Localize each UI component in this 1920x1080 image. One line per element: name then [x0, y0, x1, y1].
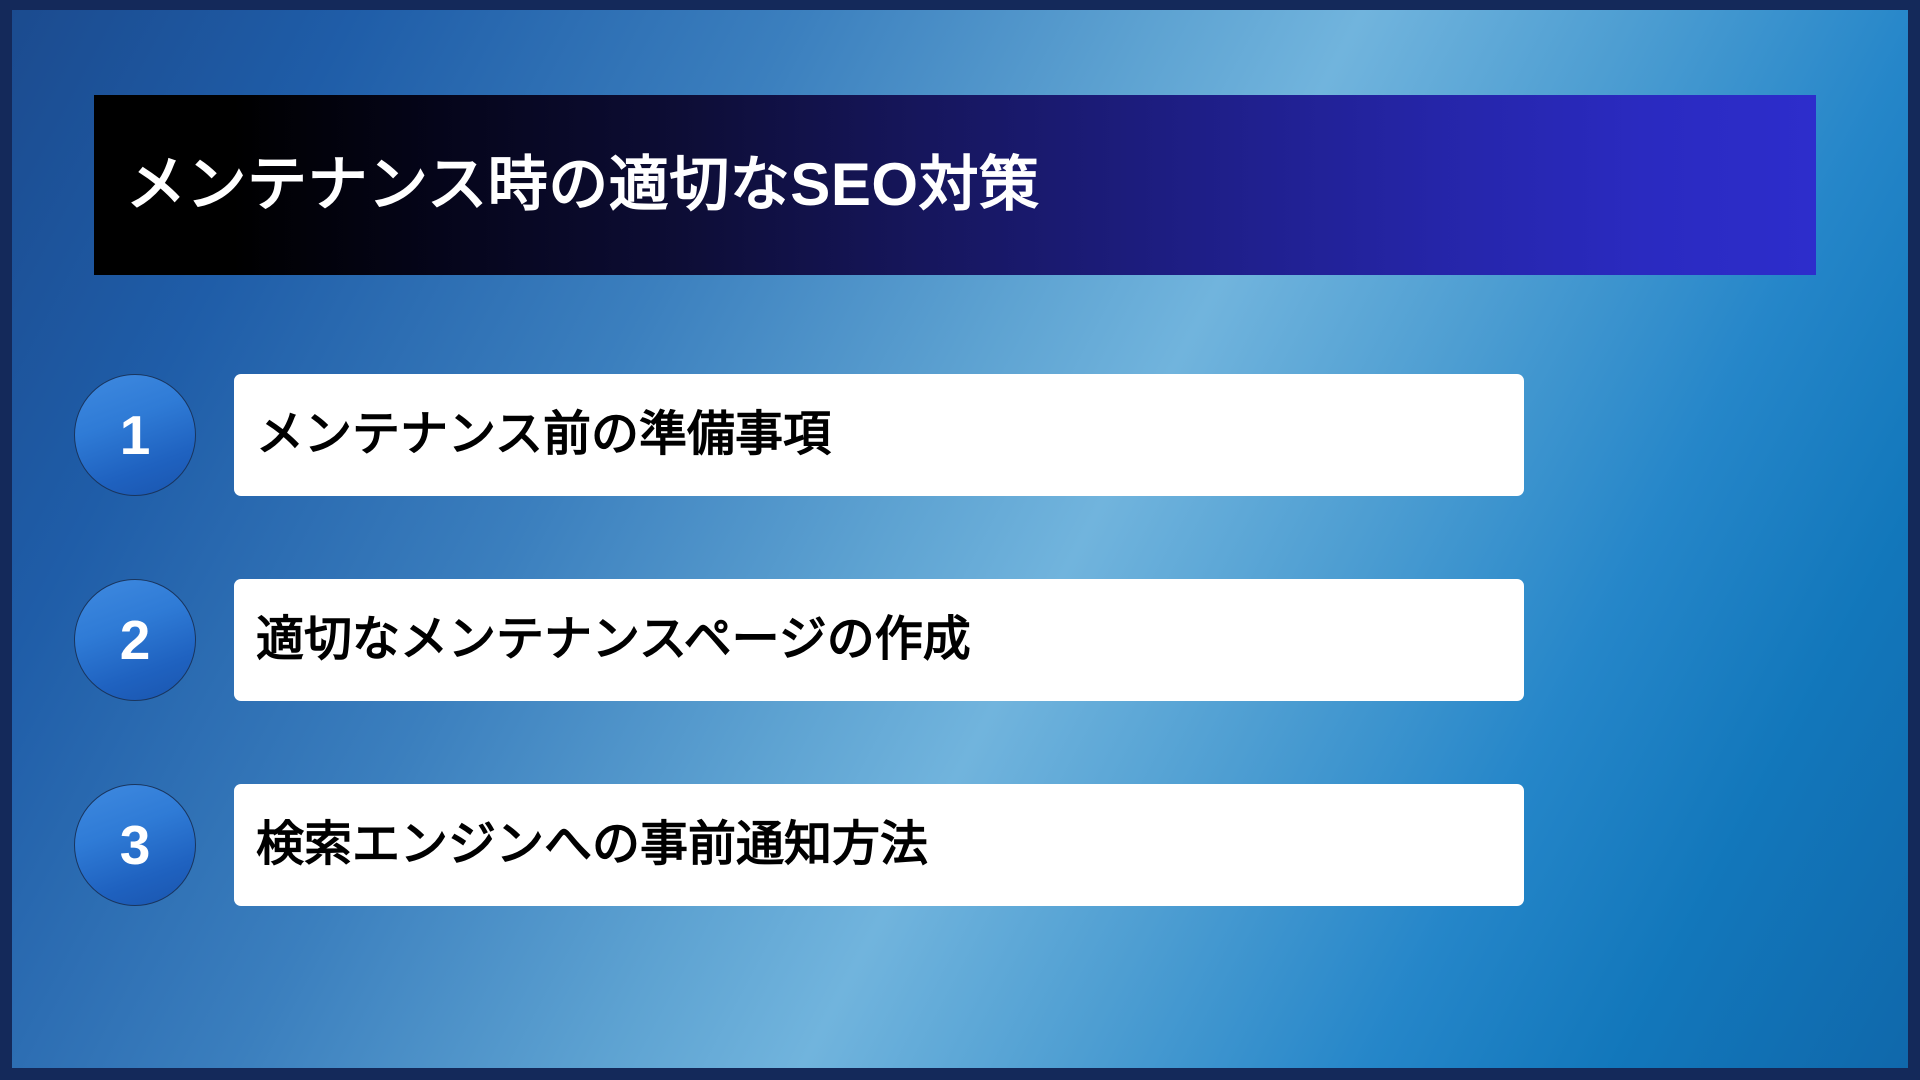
step-badge-2: 2 — [74, 579, 196, 701]
title-banner: メンテナンス時の適切なSEO対策 — [94, 95, 1816, 275]
list-item[interactable]: 2 適切なメンテナンスページの作成 — [12, 565, 1908, 715]
step-card-2[interactable]: 適切なメンテナンスページの作成 — [234, 579, 1524, 701]
page-title: メンテナンス時の適切なSEO対策 — [94, 155, 1040, 215]
step-badge-3: 3 — [74, 784, 196, 906]
step-card-label: 検索エンジンへの事前通知方法 — [234, 821, 928, 869]
slide-frame: メンテナンス時の適切なSEO対策 1 メンテナンス前の準備事項 2 適切なメンテ… — [0, 0, 1920, 1080]
slide-canvas: メンテナンス時の適切なSEO対策 1 メンテナンス前の準備事項 2 適切なメンテ… — [12, 10, 1908, 1068]
step-card-1[interactable]: メンテナンス前の準備事項 — [234, 374, 1524, 496]
step-badge-1: 1 — [74, 374, 196, 496]
step-badge-number: 3 — [120, 818, 151, 873]
step-card-3[interactable]: 検索エンジンへの事前通知方法 — [234, 784, 1524, 906]
list-item[interactable]: 1 メンテナンス前の準備事項 — [12, 360, 1908, 510]
step-card-label: 適切なメンテナンスページの作成 — [234, 616, 971, 664]
step-card-label: メンテナンス前の準備事項 — [234, 411, 831, 459]
step-badge-number: 1 — [120, 408, 151, 463]
step-badge-number: 2 — [120, 613, 151, 668]
list-item[interactable]: 3 検索エンジンへの事前通知方法 — [12, 770, 1908, 920]
